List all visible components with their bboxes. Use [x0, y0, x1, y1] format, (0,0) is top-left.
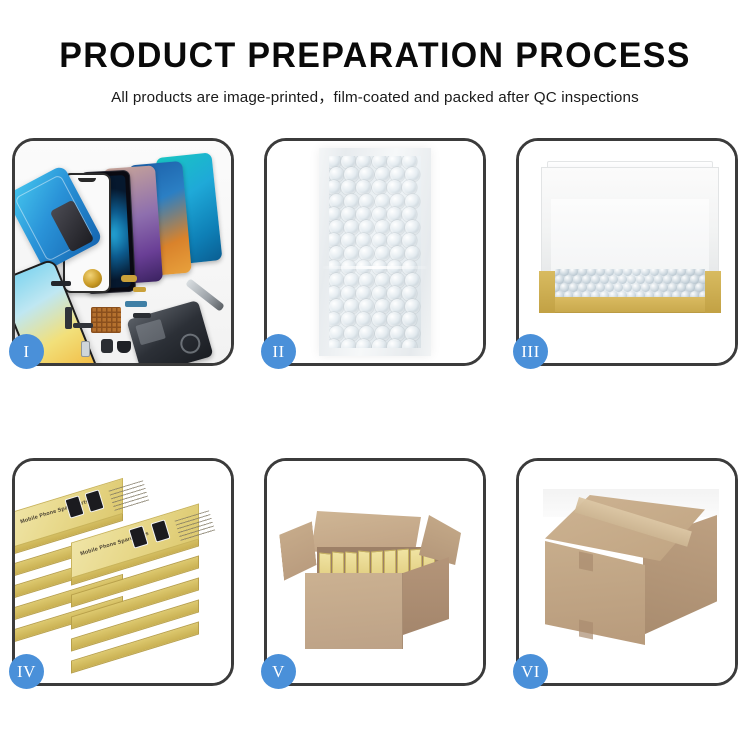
- bubble: [387, 339, 402, 348]
- carton-front-panel: [305, 573, 403, 649]
- steps-grid: I II: [12, 138, 738, 686]
- carton-tab-lower: [579, 620, 593, 640]
- bubble: [609, 291, 618, 297]
- bubble: [375, 246, 390, 261]
- step-badge-5: V: [261, 654, 296, 689]
- step-badge-3: III: [513, 334, 548, 369]
- step-panel-2: II: [264, 138, 486, 366]
- step-panel-3: III: [516, 138, 738, 366]
- step-badge-2: II: [261, 334, 296, 369]
- box-wall-right: [705, 271, 721, 313]
- bubble: [372, 312, 387, 327]
- bubble: [341, 312, 356, 327]
- bubble-field: [329, 156, 421, 348]
- bubble: [681, 291, 690, 297]
- step-image-3: [519, 141, 735, 363]
- part-camera-module: [117, 341, 131, 353]
- carton-flap-left: [278, 521, 318, 580]
- bubble: [402, 180, 417, 195]
- part-gold-flex: [121, 275, 137, 282]
- product-preparation-infographic: PRODUCT PREPARATION PROCESS All products…: [0, 0, 750, 750]
- carton-sealed-scene: [519, 461, 735, 683]
- bubble: [356, 180, 371, 195]
- part-connector: [133, 313, 151, 318]
- plastic-bag: [319, 148, 431, 356]
- bubble: [387, 312, 402, 327]
- phone-parts-scene: [15, 141, 231, 363]
- header: PRODUCT PREPARATION PROCESS All products…: [0, 0, 750, 107]
- bubble: [654, 291, 663, 297]
- step-badge-6: VI: [513, 654, 548, 689]
- bubble: [618, 291, 627, 297]
- bubble: [582, 291, 591, 297]
- bubble: [627, 291, 636, 297]
- step-panel-1: I: [12, 138, 234, 366]
- bubble: [402, 312, 417, 327]
- inner-box-scene: [519, 141, 735, 363]
- step-badge-4: IV: [9, 654, 44, 689]
- bubble: [690, 291, 699, 297]
- box-wall-left: [539, 271, 555, 313]
- bubble: [663, 291, 672, 297]
- bubble: [372, 180, 387, 195]
- box-stack-scene: Mobile Phone Spare PartsMobile Phone Spa…: [15, 461, 231, 683]
- step-image-4: Mobile Phone Spare PartsMobile Phone Spa…: [15, 461, 231, 683]
- part-sim-tray: [81, 341, 90, 357]
- step-panel-4: Mobile Phone Spare PartsMobile Phone Spa…: [12, 458, 234, 686]
- bubble-wrap-scene: [267, 141, 483, 363]
- carton-packing-scene: [267, 461, 483, 683]
- bubble: [645, 291, 654, 297]
- part-gold-small: [133, 287, 146, 292]
- part-flex-cable: [65, 307, 72, 329]
- part-blue-connector: [125, 301, 147, 307]
- bubble: [564, 291, 573, 297]
- sealed-carton-front: [545, 541, 645, 645]
- gold-speaker-part: [83, 269, 102, 288]
- copper-chip-grid: [91, 307, 121, 333]
- bubble: [372, 339, 387, 348]
- bag-seam: [323, 266, 427, 269]
- bubble: [341, 180, 356, 195]
- bubble: [555, 291, 564, 297]
- page-title: PRODUCT PREPARATION PROCESS: [11, 36, 739, 76]
- step-image-5: [267, 461, 483, 683]
- part-ribbon: [73, 323, 93, 328]
- bubble: [402, 339, 417, 348]
- step-image-1: [15, 141, 231, 363]
- part-button: [101, 339, 113, 353]
- phone-back-housing: [126, 300, 213, 363]
- bubble: [573, 291, 582, 297]
- bubble: [636, 291, 645, 297]
- bubble: [591, 291, 600, 297]
- step-image-6: [519, 461, 735, 683]
- step-badge-1: I: [9, 334, 44, 369]
- carton-tab-upper: [579, 552, 593, 572]
- bubble: [387, 180, 402, 195]
- part-strip: [51, 281, 71, 286]
- page-subtitle: All products are image-printed，film-coat…: [0, 85, 750, 107]
- bubble: [390, 246, 405, 261]
- step-panel-5: V: [264, 458, 486, 686]
- wrapped-product: [555, 269, 705, 297]
- step-panel-6: VI: [516, 458, 738, 686]
- step-image-2: [267, 141, 483, 363]
- foam-insert: [551, 199, 709, 273]
- bubble: [600, 291, 609, 297]
- bubble: [672, 291, 681, 297]
- bubble: [356, 312, 371, 327]
